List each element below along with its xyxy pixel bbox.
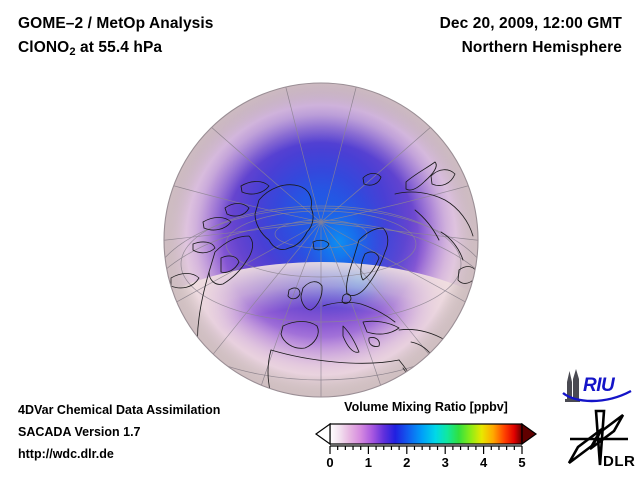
globe-map (163, 82, 479, 398)
colorbar-max-arrow (522, 424, 536, 444)
version-label: SACADA Version 1.7 (18, 421, 318, 443)
method-label: 4DVar Chemical Data Assimilation (18, 399, 318, 421)
colorbar-bar (330, 424, 522, 444)
dlr-logo: DLR (566, 409, 636, 471)
colorbar-tick-labels: 012345 (326, 455, 525, 470)
svg-text:4: 4 (480, 455, 488, 470)
pressure-level: at 55.4 hPa (76, 39, 163, 56)
riu-logo: RIU (561, 369, 633, 403)
header-right: Dec 20, 2009, 12:00 GMT Northern Hemisph… (292, 12, 622, 60)
svg-text:0: 0 (326, 455, 333, 470)
svg-text:2: 2 (403, 455, 410, 470)
svg-text:1: 1 (365, 455, 372, 470)
dlr-wordmark: DLR (603, 453, 635, 470)
colorbar: Volume Mixing Ratio [ppbv] 012345 (306, 399, 546, 472)
svg-text:3: 3 (442, 455, 449, 470)
colorbar-min-arrow (316, 424, 330, 444)
species-name: ClONO (18, 39, 69, 56)
hemisphere-label: Northern Hemisphere (292, 36, 622, 60)
svg-text:5: 5 (518, 455, 525, 470)
globe-limb-shading (164, 83, 478, 397)
website-url[interactable]: http://wdc.dlr.de (18, 443, 318, 465)
timestamp-label: Dec 20, 2009, 12:00 GMT (292, 12, 622, 36)
footer-attribution: 4DVar Chemical Data Assimilation SACADA … (18, 399, 318, 465)
riu-wordmark: RIU (583, 375, 616, 396)
colorbar-ticks (330, 446, 522, 454)
colorbar-title: Volume Mixing Ratio [ppbv] (306, 399, 546, 415)
